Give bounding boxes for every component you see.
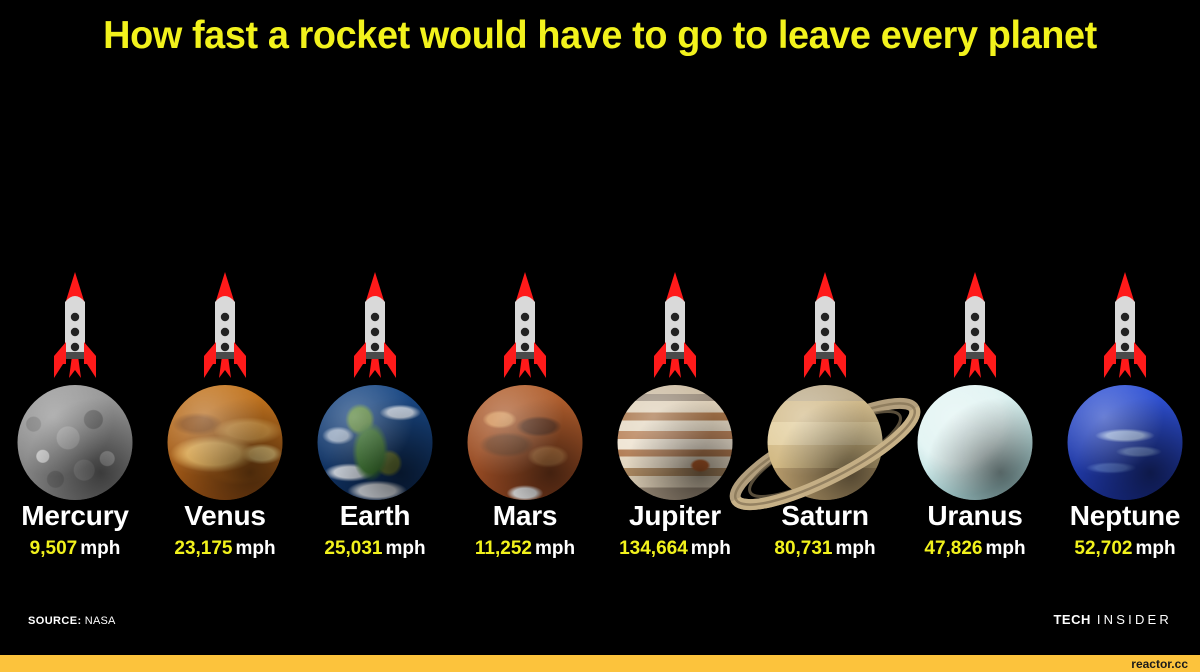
speed-unit: mph [535, 538, 575, 559]
source-credit: SOURCE: NASA [28, 615, 116, 627]
sphere-shading [468, 385, 583, 500]
sphere-shading [768, 385, 883, 500]
planet-earth-icon [318, 385, 433, 500]
planet-speed: 52,702mph [1050, 538, 1200, 560]
tech-insider-logo: TECH INSIDER [1053, 612, 1172, 627]
planet-jupiter-icon [618, 385, 733, 500]
speed-value: 9,507 [30, 538, 78, 559]
planet-stack-mars [450, 270, 600, 500]
bottom-bar: reactor.cc [0, 655, 1200, 672]
speed-unit: mph [80, 538, 120, 559]
planet-name: Saturn [750, 500, 900, 532]
speed-value: 80,731 [774, 538, 832, 559]
planet-stack-jupiter [600, 270, 750, 500]
planet-label-earth: Earth 25,031mph [300, 500, 450, 560]
planet-uranus-icon [918, 385, 1033, 500]
rocket-icon [195, 270, 255, 388]
planet-speed: 11,252mph [450, 538, 600, 560]
speed-value: 23,175 [174, 538, 232, 559]
planet-label-mars: Mars 11,252mph [450, 500, 600, 560]
rocket-icon [45, 270, 105, 388]
planet-venus-icon [168, 385, 283, 500]
speed-value: 134,664 [619, 538, 688, 559]
source-label: SOURCE: [28, 615, 82, 627]
speed-value: 52,702 [1074, 538, 1132, 559]
speed-unit: mph [691, 538, 731, 559]
planet-name: Earth [300, 500, 450, 532]
planet-label-saturn: Saturn 80,731mph [750, 500, 900, 560]
planet-speed: 23,175mph [150, 538, 300, 560]
planet-label-row: Mercury 9,507mph Venus 23,175mph Earth 2… [0, 500, 1200, 560]
planet-speed: 9,507mph [0, 538, 150, 560]
planet-label-venus: Venus 23,175mph [150, 500, 300, 560]
speed-value: 47,826 [924, 538, 982, 559]
planet-speed: 134,664mph [600, 538, 750, 560]
planet-name: Mercury [0, 500, 150, 532]
sphere-shading [18, 385, 133, 500]
source-value: NASA [85, 615, 116, 627]
brand-tech: TECH [1053, 612, 1090, 627]
planet-name: Uranus [900, 500, 1050, 532]
sphere-shading [318, 385, 433, 500]
planet-mars-icon [468, 385, 583, 500]
planet-stack-mercury [0, 270, 150, 500]
planet-name: Mars [450, 500, 600, 532]
planet-label-mercury: Mercury 9,507mph [0, 500, 150, 560]
sphere-shading [1068, 385, 1183, 500]
watermark: reactor.cc [1131, 656, 1188, 672]
speed-value: 25,031 [324, 538, 382, 559]
planet-name: Neptune [1050, 500, 1200, 532]
planet-speed: 25,031mph [300, 538, 450, 560]
planet-mercury-icon [18, 385, 133, 500]
brand-insider: INSIDER [1097, 612, 1172, 627]
planet-stack-saturn [750, 270, 900, 500]
page-title: How fast a rocket would have to go to le… [18, 14, 1182, 58]
sphere-shading [918, 385, 1033, 500]
rocket-icon [645, 270, 705, 388]
speed-unit: mph [236, 538, 276, 559]
speed-value: 11,252 [475, 538, 532, 559]
rocket-icon [795, 270, 855, 388]
planet-label-uranus: Uranus 47,826mph [900, 500, 1050, 560]
speed-unit: mph [836, 538, 876, 559]
sphere-shading [168, 385, 283, 500]
planet-stack-venus [150, 270, 300, 500]
rocket-icon [945, 270, 1005, 388]
sphere-shading [618, 385, 733, 500]
rocket-icon [345, 270, 405, 388]
planet-name: Venus [150, 500, 300, 532]
planet-stack-neptune [1050, 270, 1200, 500]
rocket-icon [1095, 270, 1155, 388]
infographic-poster: How fast a rocket would have to go to le… [0, 0, 1200, 672]
planet-neptune-icon [1068, 385, 1183, 500]
planet-speed: 47,826mph [900, 538, 1050, 560]
planet-label-neptune: Neptune 52,702mph [1050, 500, 1200, 560]
speed-unit: mph [1136, 538, 1176, 559]
planet-speed: 80,731mph [750, 538, 900, 560]
planet-name: Jupiter [600, 500, 750, 532]
speed-unit: mph [986, 538, 1026, 559]
speed-unit: mph [386, 538, 426, 559]
planet-saturn-icon [768, 385, 883, 500]
planet-stack-uranus [900, 270, 1050, 500]
planet-label-jupiter: Jupiter 134,664mph [600, 500, 750, 560]
rocket-icon [495, 270, 555, 388]
planet-stack-earth [300, 270, 450, 500]
